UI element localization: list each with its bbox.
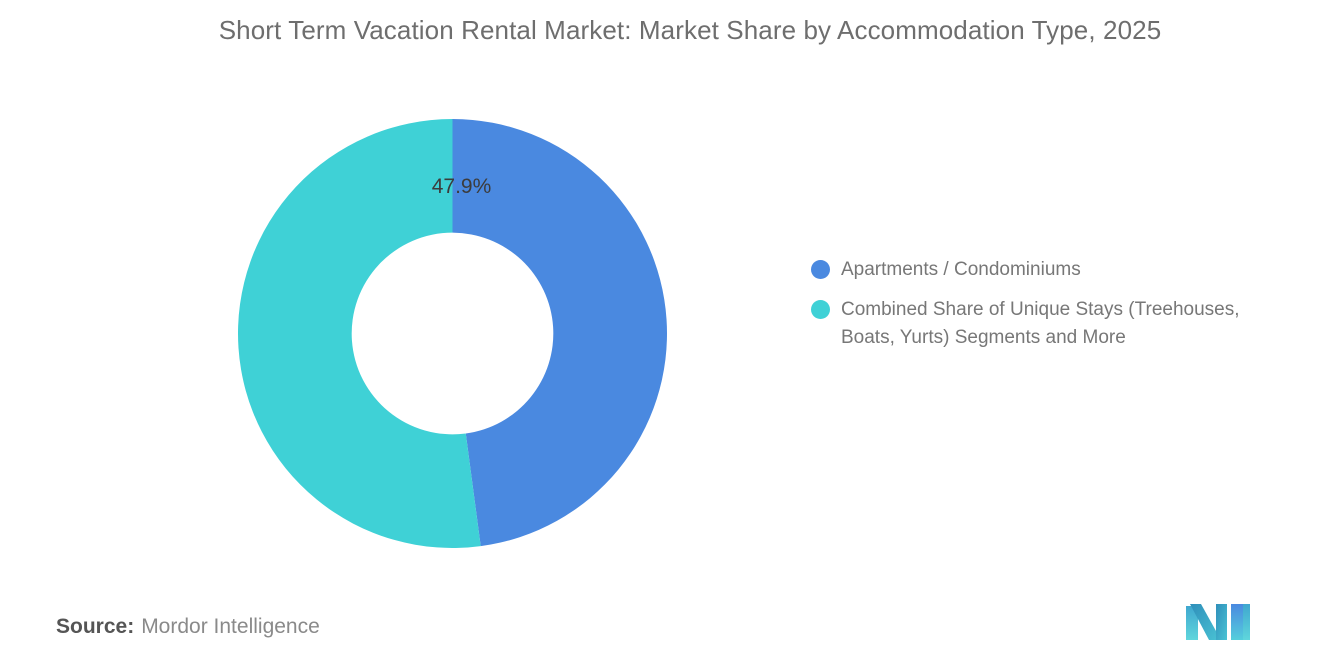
legend-color-swatch-icon <box>811 260 830 279</box>
chart-legend: Apartments / Condominiums Combined Share… <box>811 256 1271 364</box>
legend-color-swatch-icon <box>811 300 830 319</box>
page-title: Short Term Vacation Rental Market: Marke… <box>60 10 1320 50</box>
mordor-intelligence-logo <box>1183 598 1253 644</box>
legend-item-label: Apartments / Condominiums <box>841 256 1081 284</box>
mordor-intelligence-logo-icon <box>1183 598 1253 644</box>
donut-chart: 47.9% <box>238 119 667 548</box>
pie-slice-combined-unique-stays[interactable] <box>238 119 481 548</box>
legend-item-label: Combined Share of Unique Stays (Treehous… <box>841 296 1253 352</box>
source-line: Source:Mordor Intelligence <box>56 612 320 642</box>
donut-chart-svg <box>238 119 667 548</box>
source-value: Mordor Intelligence <box>141 615 320 638</box>
legend-item-apartments-condominiums[interactable]: Apartments / Condominiums <box>811 256 1271 284</box>
pie-slice-apartments-condominiums[interactable] <box>453 119 668 546</box>
source-label: Source: <box>56 615 134 638</box>
legend-item-combined-unique-stays[interactable]: Combined Share of Unique Stays (Treehous… <box>811 296 1271 352</box>
